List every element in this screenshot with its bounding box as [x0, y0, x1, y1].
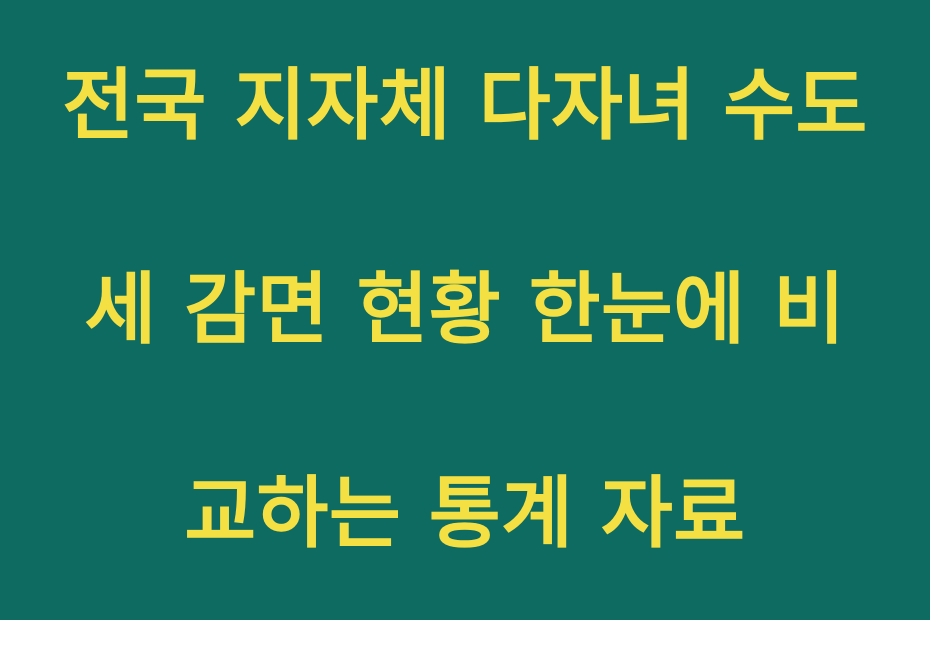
headline: 전국 지자체 다자녀 수도 세 감면 현황 한눈에 비 교하는 통계 자료	[30, 0, 900, 667]
headline-line-3: 교하는 통계 자료	[30, 463, 900, 565]
title-card: 전국 지자체 다자녀 수도 세 감면 현황 한눈에 비 교하는 통계 자료	[0, 0, 930, 620]
headline-line-2: 세 감면 현황 한눈에 비	[30, 259, 900, 361]
headline-line-1: 전국 지자체 다자녀 수도	[30, 55, 900, 157]
